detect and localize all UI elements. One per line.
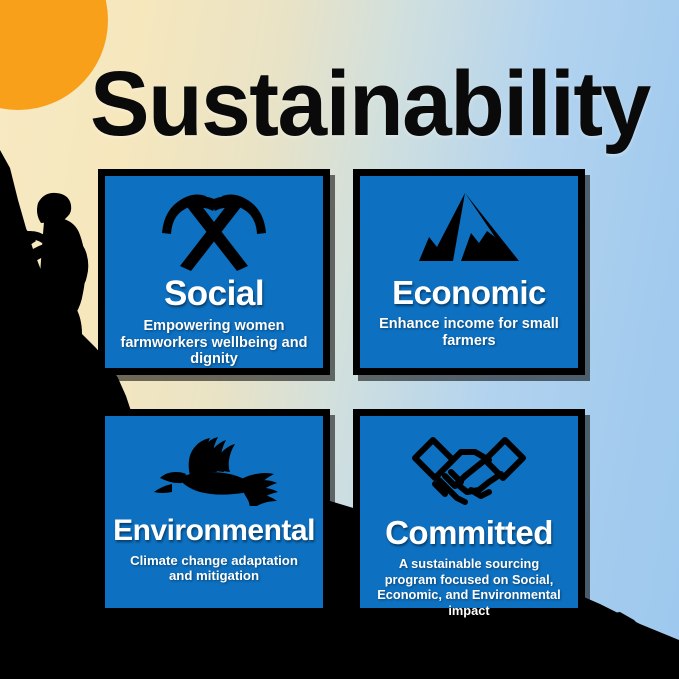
card-description: A sustainable sourcing program focused o… [368,556,570,618]
mountain-peak-icon [368,186,570,274]
card-environmental[interactable]: Environmental Climate change adaptation … [98,409,330,615]
card-committed[interactable]: Committed A sustainable sourcing program… [353,409,585,615]
card-economic[interactable]: Economic Enhance income for small farmer… [353,169,585,375]
page-title: Sustainability [90,58,650,150]
card-description: Climate change adaptation and mitigation [113,553,315,583]
card-title: Committed [385,516,553,549]
card-title: Economic [392,276,546,309]
card-description: Enhance income for small farmers [368,316,570,349]
card-title: Social [164,276,264,311]
card-title: Environmental [113,516,315,546]
handshake-icon [368,426,570,514]
crossed-pickaxes-icon [113,186,315,274]
sustainability-poster: Sustainability [0,0,679,679]
card-description: Empowering women farmworkers wellbeing a… [113,318,315,368]
flying-bird-icon [113,426,315,514]
pillars-grid: Social Empowering women farmworkers well… [98,169,585,615]
card-social[interactable]: Social Empowering women farmworkers well… [98,169,330,375]
